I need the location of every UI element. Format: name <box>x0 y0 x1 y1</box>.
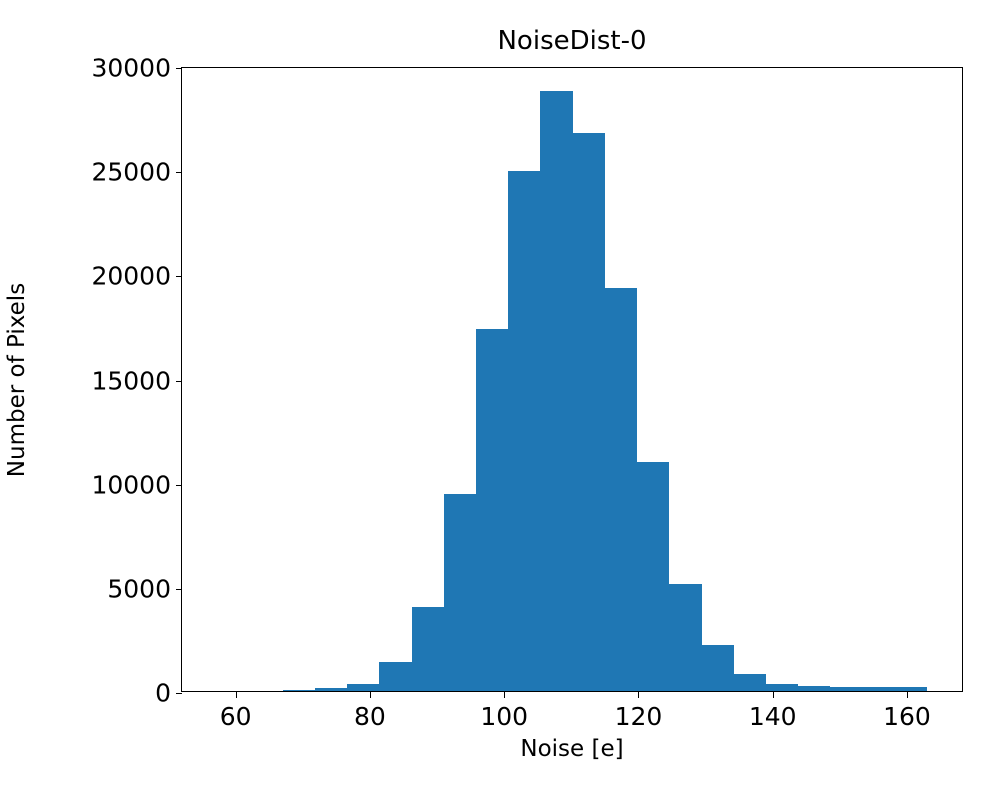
y-tick-mark <box>176 589 183 590</box>
x-tick-mark <box>236 691 237 698</box>
y-tick-mark <box>176 68 183 69</box>
histogram-bar <box>508 171 540 691</box>
histogram-bar <box>476 329 508 692</box>
histogram-bar <box>379 662 411 691</box>
x-tick-label: 60 <box>220 702 252 731</box>
y-tick-label: 20000 <box>91 262 171 291</box>
histogram-bar <box>830 687 862 691</box>
histogram-bar <box>444 494 476 691</box>
histogram-bar <box>669 584 701 691</box>
x-tick-mark <box>773 691 774 698</box>
y-axis-label-text: Number of Pixels <box>4 282 30 476</box>
x-tick-label: 140 <box>749 702 797 731</box>
histogram-bar <box>283 690 315 691</box>
x-tick-label: 80 <box>354 702 386 731</box>
histogram-figure: NoiseDist-0 Number of Pixels 05000100001… <box>0 0 1000 800</box>
histogram-bar <box>347 684 379 691</box>
x-axis-label: Noise [e] <box>181 736 963 762</box>
plot-axes: 050001000015000200002500030000 608010012… <box>181 67 963 692</box>
histogram-bar <box>798 686 830 691</box>
y-tick-mark <box>176 381 183 382</box>
histogram-bar <box>540 91 572 691</box>
histogram-bar <box>766 684 798 691</box>
y-tick-label: 5000 <box>107 574 171 603</box>
x-tick-label: 120 <box>615 702 663 731</box>
y-tick-label: 30000 <box>91 54 171 83</box>
y-axis-label: Number of Pixels <box>0 67 34 692</box>
x-tick-label: 100 <box>480 702 528 731</box>
x-tick-mark <box>907 691 908 698</box>
y-tick-mark <box>176 276 183 277</box>
chart-title: NoiseDist-0 <box>181 28 963 54</box>
y-tick-mark <box>176 172 183 173</box>
histogram-bar <box>412 607 444 691</box>
histogram-bar <box>315 688 347 691</box>
x-tick-mark <box>638 691 639 698</box>
y-tick-label: 0 <box>155 679 171 708</box>
x-tick-label: 160 <box>883 702 931 731</box>
histogram-bar <box>895 687 927 691</box>
y-tick-mark <box>176 693 183 694</box>
histogram-bar <box>734 674 766 691</box>
y-tick-label: 25000 <box>91 158 171 187</box>
y-tick-mark <box>176 485 183 486</box>
histogram-bar <box>573 133 605 691</box>
x-tick-mark <box>370 691 371 698</box>
histogram-bar <box>637 462 669 691</box>
histogram-bar <box>605 288 637 691</box>
histogram-bar <box>863 687 895 691</box>
y-tick-label: 15000 <box>91 366 171 395</box>
histogram-bar <box>702 645 734 691</box>
x-tick-mark <box>504 691 505 698</box>
plot-area <box>182 68 962 691</box>
y-tick-label: 10000 <box>91 470 171 499</box>
